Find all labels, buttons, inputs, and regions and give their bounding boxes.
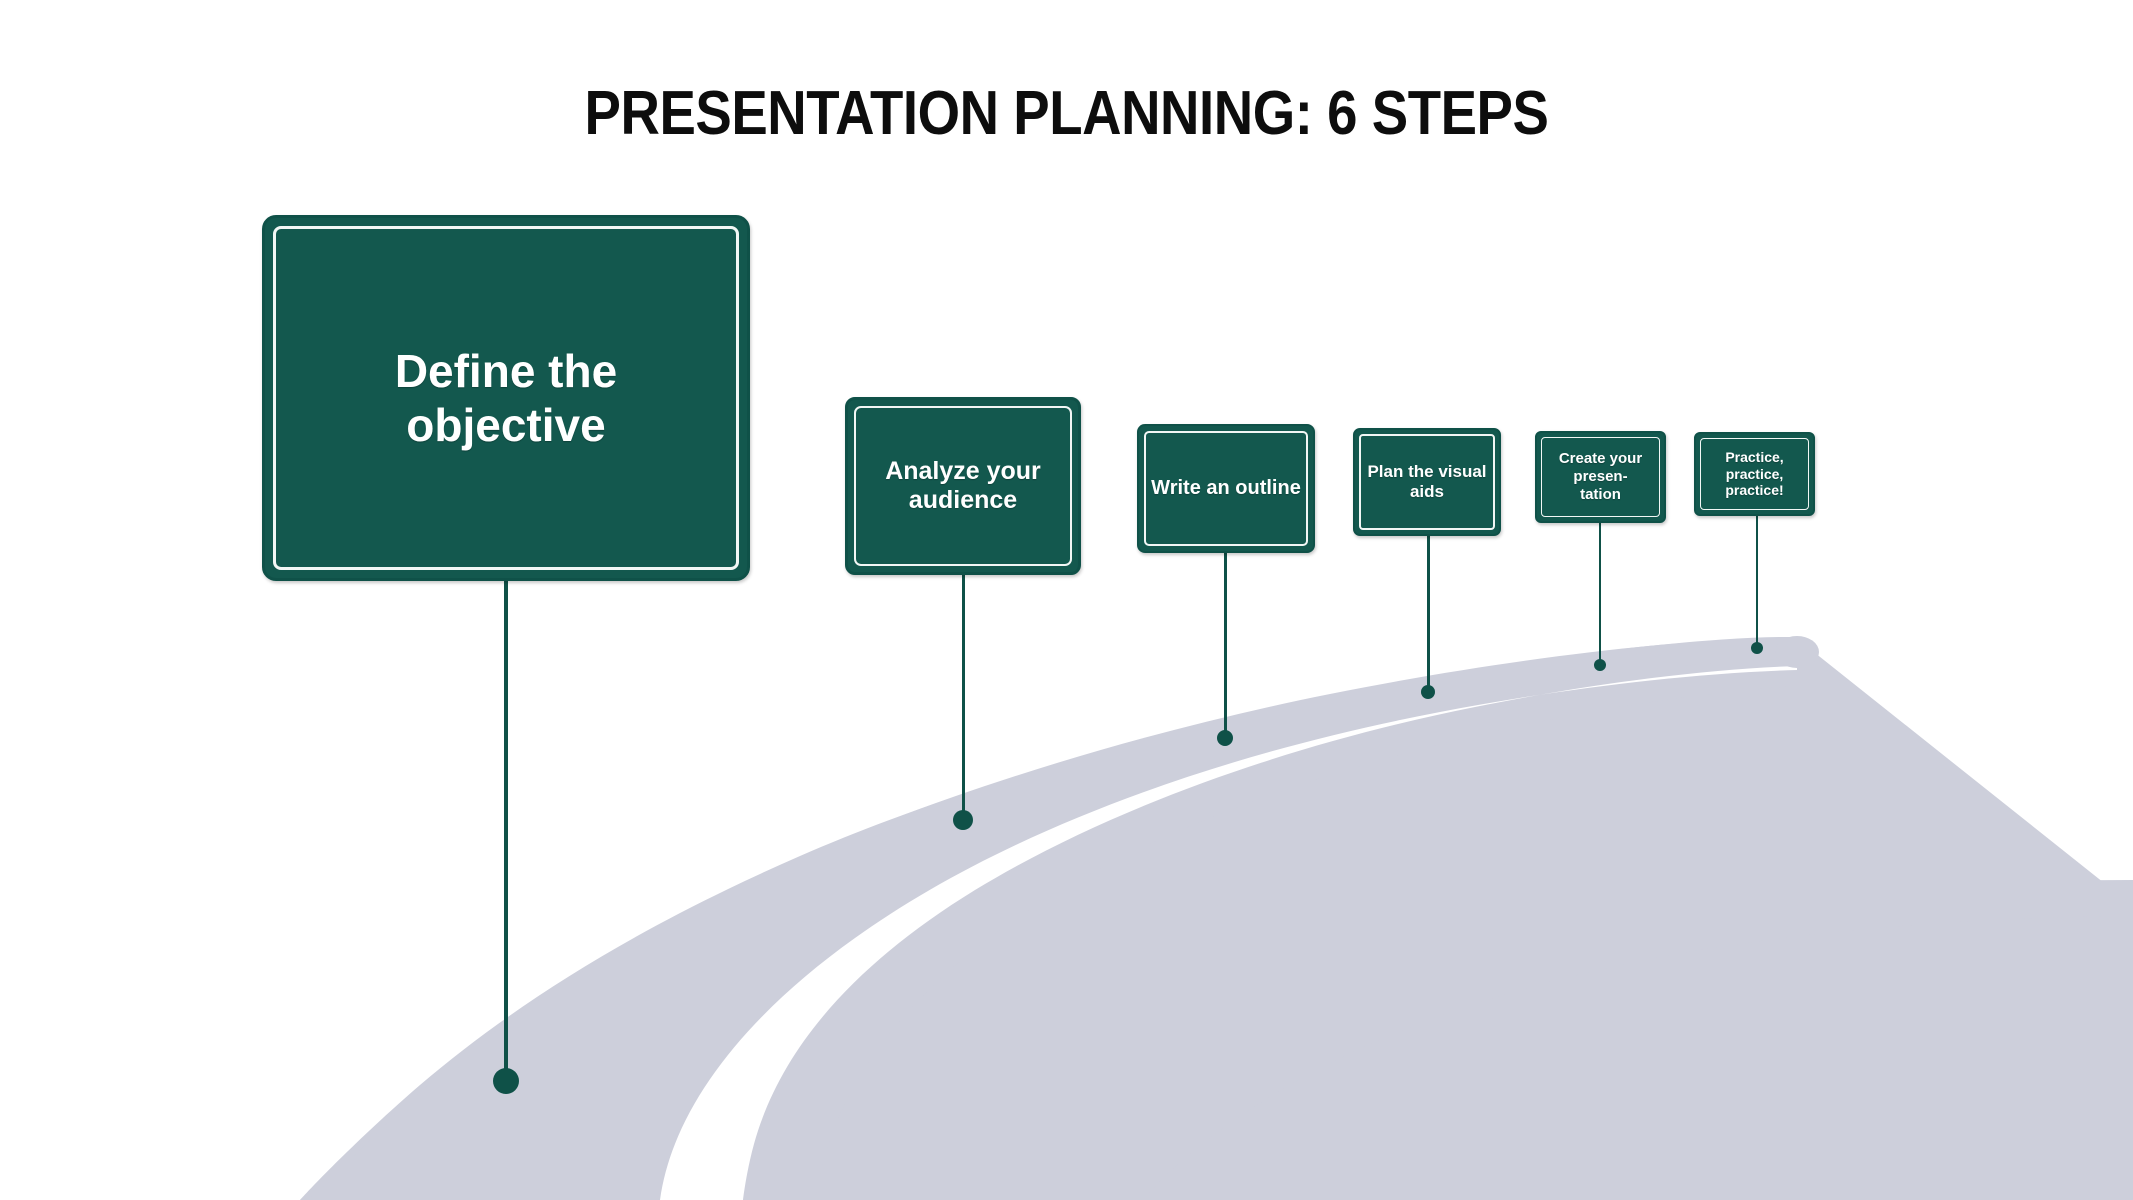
road-marker-dot-6 — [1751, 642, 1763, 654]
step-sign-label-2: Analyze your audience — [877, 457, 1049, 516]
sign-post-2 — [962, 572, 965, 820]
road-lane-divider — [660, 666, 1797, 1200]
sign-post-6 — [1756, 513, 1758, 648]
sign-post-3 — [1224, 550, 1227, 738]
slide-canvas: PRESENTATION PLANNING: 6 STEPS Define th… — [0, 0, 2133, 1200]
step-sign-1-define-the-objective[interactable]: Define the objective — [262, 215, 750, 581]
step-sign-6-practice-practice-practice[interactable]: Practice, practice, practice! — [1694, 432, 1815, 516]
sign-post-1 — [504, 578, 508, 1081]
road-vanishing-tip — [1775, 636, 1819, 668]
road-marker-dot-3 — [1217, 730, 1233, 746]
page-title: PRESENTATION PLANNING: 6 STEPS — [128, 78, 2005, 149]
step-sign-label-4: Plan the visual aids — [1359, 462, 1494, 502]
road-illustration — [0, 0, 2133, 1200]
road-lane-outer — [305, 638, 1796, 1200]
road-lane-inner — [733, 658, 2133, 1200]
road-marker-dot-2 — [953, 810, 973, 830]
step-sign-label-6: Practice, practice, practice! — [1717, 449, 1791, 499]
step-sign-4-plan-the-visual-aids[interactable]: Plan the visual aids — [1353, 428, 1501, 536]
step-sign-label-5: Create your presen- tation — [1551, 450, 1650, 503]
road-marker-dot-5 — [1594, 659, 1606, 671]
sign-post-4 — [1427, 533, 1430, 692]
step-sign-3-write-an-outline[interactable]: Write an outline — [1137, 424, 1315, 553]
step-sign-5-create-your-presentation[interactable]: Create your presen- tation — [1535, 431, 1666, 523]
step-sign-2-analyze-your-audience[interactable]: Analyze your audience — [845, 397, 1081, 575]
road-marker-dot-4 — [1421, 685, 1435, 699]
road-surface — [300, 637, 2133, 1200]
sign-post-5 — [1599, 520, 1601, 665]
step-sign-label-1: Define the objective — [387, 344, 625, 453]
road-marker-dot-1 — [493, 1068, 519, 1094]
step-sign-label-3: Write an outline — [1143, 477, 1309, 501]
